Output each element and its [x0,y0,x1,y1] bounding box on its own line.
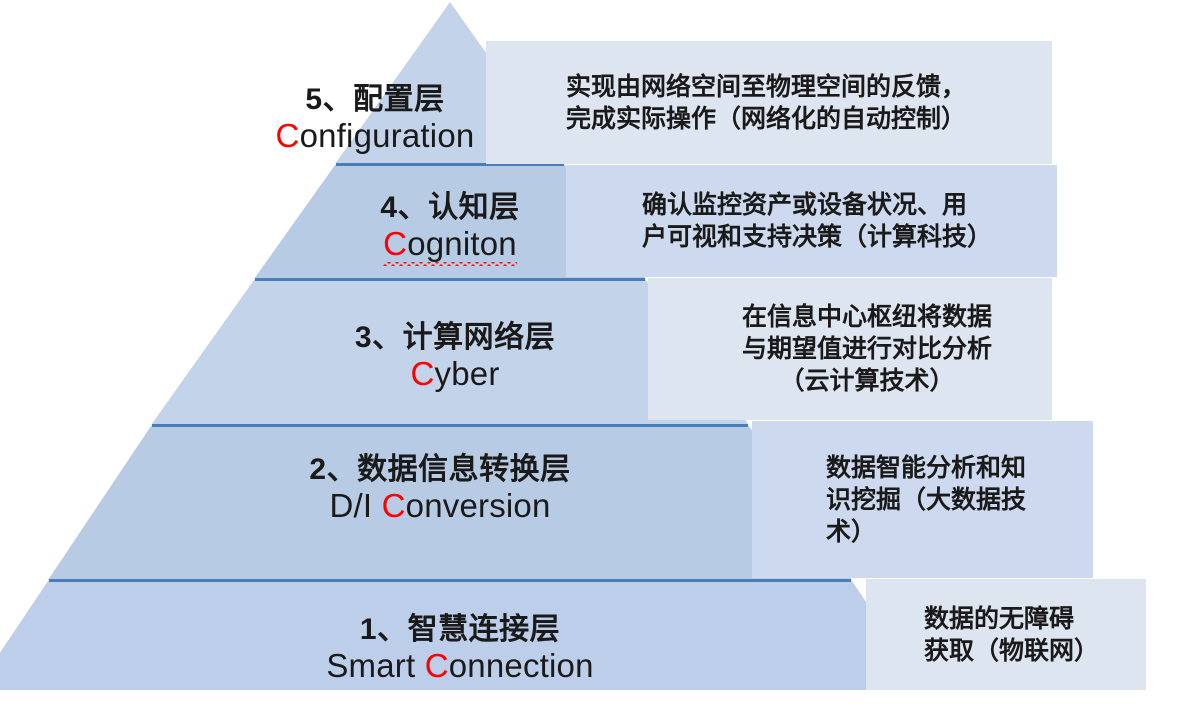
level-label-3-en: Cyber [290,355,620,394]
description-text-level-1: 数据的无障碍 获取（物联网） [866,603,1146,667]
level-label-1-en-prefix: Smart [326,647,424,684]
level-label-2-en: D/I Conversion [225,487,655,526]
level-label-3[interactable]: 3、计算网络层 Cyber [290,320,620,394]
description-text-level-2: 数据智能分析和知 识挖掘（大数据技 术） [752,452,1093,548]
level-label-4-cn: 4、认知层 [300,190,600,225]
description-panel-level-2[interactable]: 数据智能分析和知 识挖掘（大数据技 术） [752,421,1093,578]
level-label-4-en-accent: C [383,225,407,262]
level-label-4-en: Cogniton [300,225,600,264]
level-label-1-en: Smart Connection [245,647,675,686]
description-panel-level-3[interactable]: 在信息中心枢纽将数据 与期望值进行对比分析 （云计算技术） [648,278,1052,420]
level-label-2[interactable]: 2、数据信息转换层 D/I Conversion [225,452,655,526]
level-label-3-en-rest: yber [435,355,500,392]
description-text-level-4: 确认监控资产或设备状况、用 户可视和支持决策（计算科技） [566,189,1057,253]
level-label-3-en-accent: C [410,355,434,392]
level-label-4-en-rest: ogniton [407,225,517,262]
diagram-canvas: 实现由网络空间至物理空间的反馈， 完成实际操作（网络化的自动控制） 确认监控资产… [0,0,1181,710]
level-label-5-en-rest: onfiguration [300,117,475,154]
level-label-5-cn: 5、配置层 [215,82,535,117]
description-panel-level-5[interactable]: 实现由网络空间至物理空间的反馈， 完成实际操作（网络化的自动控制） [486,41,1052,164]
level-label-1[interactable]: 1、智慧连接层 Smart Connection [245,612,675,686]
description-text-level-5: 实现由网络空间至物理空间的反馈， 完成实际操作（网络化的自动控制） [486,71,1052,135]
level-label-2-cn: 2、数据信息转换层 [225,452,655,487]
level-label-2-en-rest: onversion [406,487,551,524]
spellcheck-underline: Cogniton [383,225,517,264]
level-label-5-en: Configuration [215,117,535,156]
level-label-2-en-accent: C [382,487,406,524]
level-label-5[interactable]: 5、配置层 Configuration [215,82,535,156]
level-label-1-cn: 1、智慧连接层 [245,612,675,647]
level-label-3-cn: 3、计算网络层 [290,320,620,355]
level-label-5-en-accent: C [276,117,300,154]
level-label-4[interactable]: 4、认知层 Cogniton [300,190,600,264]
description-text-level-3: 在信息中心枢纽将数据 与期望值进行对比分析 （云计算技术） [648,301,1052,397]
level-label-1-en-rest: onnection [449,647,594,684]
level-label-2-en-prefix: D/I [329,487,381,524]
description-panel-level-4[interactable]: 确认监控资产或设备状况、用 户可视和支持决策（计算科技） [566,165,1057,277]
description-panel-level-1[interactable]: 数据的无障碍 获取（物联网） [866,579,1146,690]
level-label-1-en-accent: C [425,647,449,684]
